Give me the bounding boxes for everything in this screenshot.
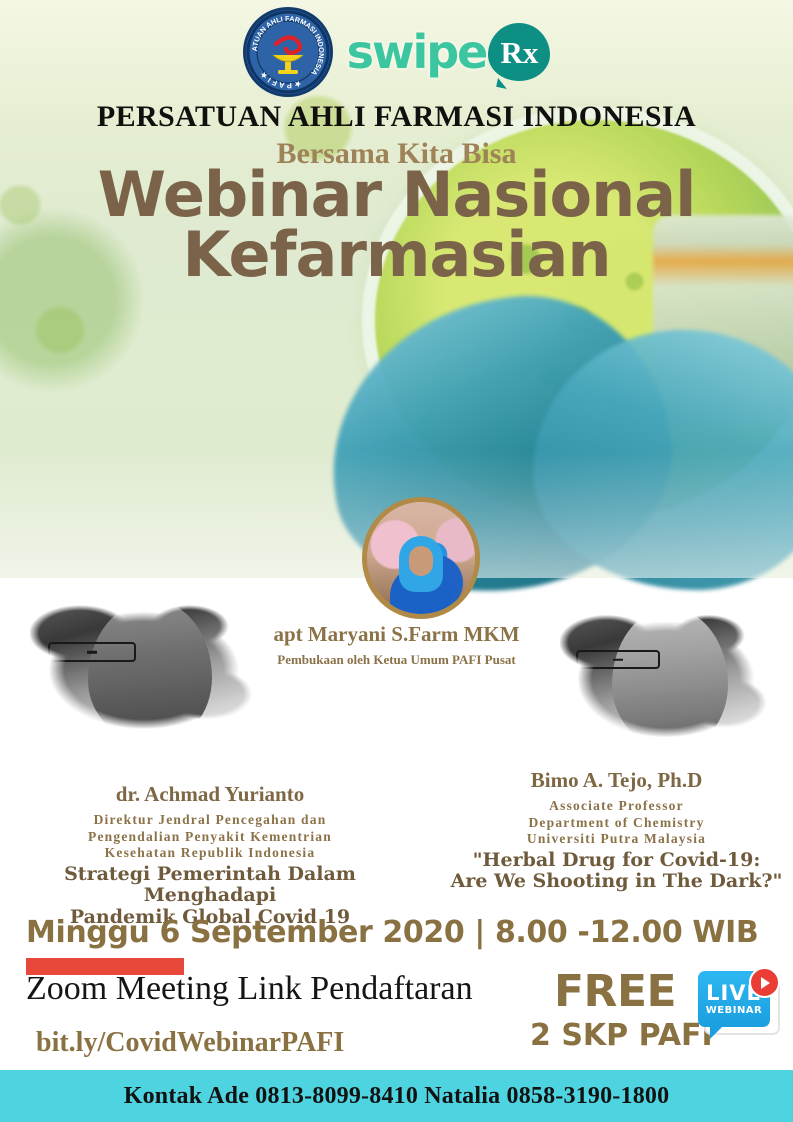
organization-name: PERSATUAN AHLI FARMASI INDONESIA: [0, 100, 793, 134]
speaker-right-face: [612, 608, 728, 750]
pafi-seal-svg: PERSATUAN AHLI FARMASI INDONESIA ★ P A F…: [246, 10, 330, 94]
swipe-wordmark: swipe: [347, 25, 487, 79]
brush-stroke-mask-right: [560, 592, 772, 760]
glasses-icon-left: [48, 642, 136, 662]
registration-heading: Zoom Meeting Link Pendaftaran: [26, 970, 473, 1008]
logo-row: PERSATUAN AHLI FARMASI INDONESIA ★ P A F…: [0, 12, 793, 92]
speaker-topic-right: "Herbal Drug for Covid-19: Are We Shooti…: [440, 850, 793, 893]
speaker-block-left: dr. Achmad Yurianto Direktur Jendral Pen…: [0, 782, 420, 928]
pafi-seal-icon: PERSATUAN AHLI FARMASI INDONESIA ★ P A F…: [243, 7, 333, 97]
skp-badge: 2 SKP PAFI: [530, 1018, 713, 1053]
free-badge: FREE: [554, 966, 676, 1017]
webinar-label: WEBINAR: [706, 1006, 763, 1016]
rx-bubble-icon: Rx: [488, 23, 550, 81]
speaker-block-right: Bimo A. Tejo, Ph.D Associate Professor D…: [440, 768, 793, 893]
registration-link[interactable]: bit.ly/CovidWebinarPAFI: [36, 1027, 344, 1059]
moderator-avatar: [362, 497, 480, 619]
speaker-affiliation-left: Direktur Jendral Pencegahan dan Pengenda…: [0, 812, 420, 862]
schedule-line: Minggu 6 September 2020 | 8.00 -12.00 WI…: [26, 915, 758, 950]
live-webinar-badge: LIVE WEBINAR: [694, 967, 780, 1049]
speaker-portrait-left: [30, 582, 258, 752]
play-icon: [749, 967, 780, 998]
speaker-name-right: Bimo A. Tejo, Ph.D: [440, 768, 793, 793]
speaker-portrait-right: [560, 592, 772, 760]
swiperx-logo: swipe Rx: [347, 23, 551, 81]
glasses-icon-right: [576, 650, 660, 669]
moderator-face-shape: [409, 546, 433, 576]
moderator-photo: [367, 502, 475, 614]
speaker-name-left: dr. Achmad Yurianto: [0, 782, 420, 807]
rx-label: Rx: [500, 37, 538, 68]
webinar-poster: PERSATUAN AHLI FARMASI INDONESIA ★ P A F…: [0, 0, 793, 1122]
page-title: Webinar Nasional Kefarmasian: [0, 165, 793, 285]
brush-stroke-mask-left: [30, 582, 258, 752]
title-line-2: Kefarmasian: [0, 225, 793, 285]
speaker-left-face: [88, 600, 212, 744]
contact-band: Kontak Ade 0813-8099-8410 Natalia 0858-3…: [0, 1070, 793, 1122]
contact-text: Kontak Ade 0813-8099-8410 Natalia 0858-3…: [124, 1083, 670, 1110]
speaker-affiliation-right: Associate Professor Department of Chemis…: [440, 798, 793, 848]
